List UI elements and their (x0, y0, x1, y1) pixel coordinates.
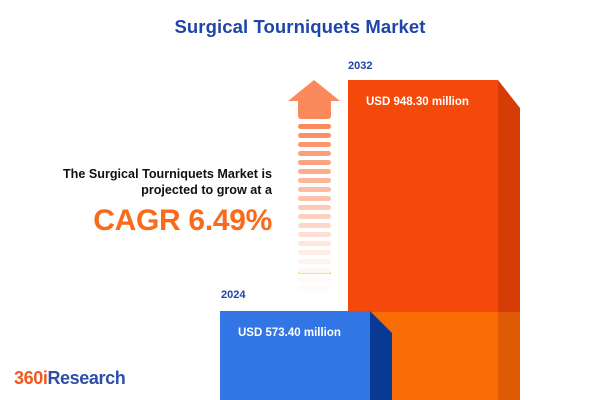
arrow-segment-icon (298, 133, 331, 138)
arrow-segment-icon (298, 241, 331, 246)
arrow-neck-icon (298, 101, 331, 119)
arrow-head-icon (288, 80, 340, 101)
arrow-segment-icon (298, 142, 331, 147)
statement-block: The Surgical Tourniquets Market is proje… (8, 166, 272, 238)
arrow-segment-icon (298, 196, 331, 201)
brand-logo: 360iResearch (14, 368, 125, 389)
logo-text-360: 360 (14, 368, 43, 388)
arrow-segment-icon (298, 187, 331, 192)
bar-2032-year-label: 2032 (348, 60, 372, 72)
arrow-segment-icon (298, 214, 331, 219)
page-title: Surgical Tourniquets Market (0, 16, 600, 38)
growth-arrow-icon (288, 80, 341, 290)
bar-2032-side-face-lower (498, 312, 520, 400)
logo-text-research: Research (47, 368, 125, 388)
arrow-segment-icon (298, 124, 331, 129)
arrow-segment-icon (298, 169, 331, 174)
arrow-segment-icon (298, 250, 331, 255)
bar-2032-value-label: USD 948.30 million (366, 96, 469, 108)
arrow-segment-icon (298, 277, 331, 282)
arrow-segment-icon (298, 223, 331, 228)
arrow-segment-icon (298, 151, 331, 156)
arrow-segment-icon (298, 286, 331, 291)
statement-line-2: projected to grow at a (8, 182, 272, 198)
statement-line-1: The Surgical Tourniquets Market is (8, 166, 272, 182)
arrow-segment-icon (298, 205, 331, 210)
cagr-highlight: CAGR 6.49% (8, 204, 272, 238)
bar-2024-front-face (220, 311, 370, 400)
bar-2024-year-label: 2024 (221, 289, 245, 301)
bar-2024-value-label: USD 573.40 million (238, 327, 341, 339)
arrow-segment-icon (298, 160, 331, 165)
arrow-segment-icon (298, 232, 331, 237)
arrow-segment-icon (298, 268, 331, 273)
infographic-canvas: Surgical Tourniquets Market The Surgical… (0, 0, 600, 400)
arrow-segment-icon (298, 259, 331, 264)
arrow-segment-icon (298, 178, 331, 183)
